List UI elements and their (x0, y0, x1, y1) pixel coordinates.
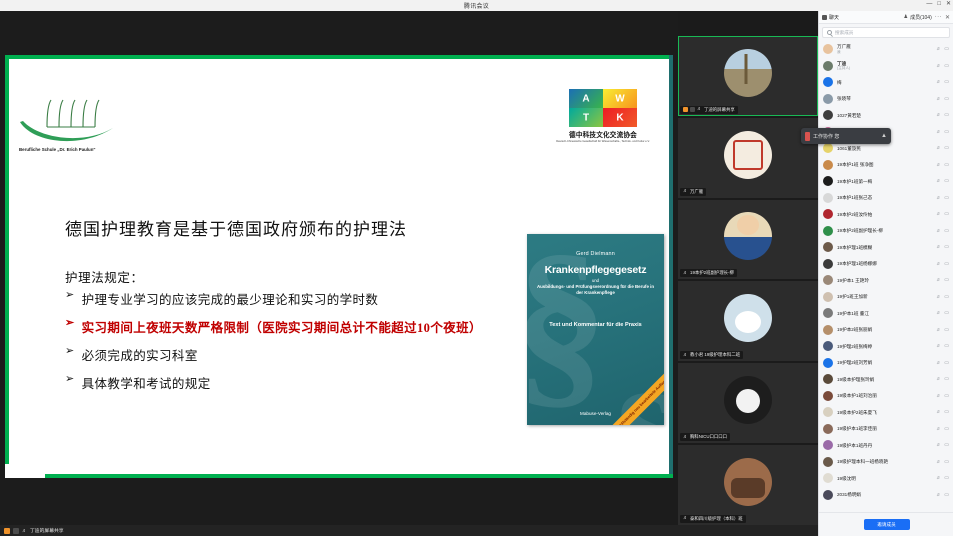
camera-off-icon[interactable]: ▭ (944, 294, 949, 300)
bullet-text: 具体教学和考试的规定 (82, 373, 211, 392)
avatar (823, 308, 833, 318)
book-publisher: Mabuse-Verlag (527, 411, 664, 416)
bullet-marker-icon: ➢ (65, 317, 75, 331)
member-controls[interactable]: ♬▭ (936, 426, 949, 432)
member-count-label: 成员(104) (910, 14, 932, 21)
avatar (823, 358, 833, 368)
avatar (823, 176, 833, 186)
member-row[interactable]: 19级护理本科一班杨晓艳♬▭ (819, 454, 953, 471)
member-controls[interactable]: ♬▭ (936, 409, 949, 415)
search-area: 搜索成员 (819, 24, 953, 41)
mic-off-icon[interactable]: ♬ (936, 211, 941, 217)
mic-off-icon[interactable]: ♬ (936, 343, 941, 349)
member-row[interactable]: 19护本1班 董江♬▭ (819, 305, 953, 322)
member-role: (主持人) (837, 66, 850, 70)
screen-share-icon (4, 528, 10, 534)
status-bar-text: 丁迪的屏幕共享 (30, 527, 64, 534)
school-logo: Berufliche Schule „Dr. Erich Paulun" (19, 97, 129, 157)
mic-icon: ♬ (22, 528, 27, 534)
tab-chat[interactable]: 聊天 (822, 14, 839, 21)
mic-off-icon[interactable]: ♬ (936, 327, 941, 333)
avatar (724, 49, 772, 97)
member-name: 19级护理本科一班杨晓艳 (837, 459, 888, 465)
mic-off-icon[interactable]: ♬ (936, 277, 941, 283)
avatar (823, 391, 833, 401)
mic-off-icon: ♬ (683, 516, 688, 521)
member-controls[interactable]: ♬▭ (936, 360, 949, 366)
member-count[interactable]: ♟ 成员(104) (904, 14, 932, 21)
side-panel: 聊天 ♟ 成员(104) ··· ✕ 搜索成员 万广雁我♬▭丁迪(主持人)♬▭梅… (818, 11, 953, 536)
member-name: 1061董旋民 (837, 146, 861, 152)
association-name-cn: 德中科技文化交流协会 (547, 129, 659, 139)
avatar (823, 374, 833, 384)
avatar (724, 376, 772, 424)
member-name: 19本护1班张己态 (837, 195, 872, 201)
camera-off-icon[interactable]: ▭ (944, 376, 949, 382)
status-bar: ♬ 丁迪的屏幕共享 (0, 525, 818, 536)
member-row[interactable]: 19护1班王加新♬▭ (819, 289, 953, 306)
member-row[interactable]: 19护本2班张丽娟♬▭ (819, 322, 953, 339)
camera-off-icon[interactable]: ▭ (944, 145, 949, 151)
video-tile[interactable]: ♬ 胸科NICU口口口口 (678, 363, 818, 443)
mic-off-icon[interactable]: ♬ (936, 409, 941, 415)
member-name: 19护1班王加新 (837, 294, 868, 300)
awtk-letter-a: A (569, 89, 603, 108)
slide-title: 德国护理教育是基于德国政府颁布的护理法 (65, 215, 407, 240)
video-tile[interactable]: ♬ 19本护2班副护理长-柳 (678, 200, 818, 280)
member-name: 19本护2班汝伶帕 (837, 212, 872, 218)
slide-bullet-list: ➢ 护理专业学习的应该完成的最少理论和实习的学时数 ➢ 实习期间上夜班天数严格限… (65, 289, 535, 401)
video-tile[interactable]: ♬ 泰和四川级护理（本科）班 (678, 445, 818, 525)
collaboration-toolbar[interactable]: 工作协作 您 ▲ (801, 128, 891, 144)
mic-off-icon[interactable]: ♬ (936, 145, 941, 151)
mic-off-icon[interactable]: ♬ (936, 46, 941, 52)
window-titlebar: 腾讯会议 — □ ✕ (0, 0, 953, 11)
search-icon (827, 30, 832, 35)
member-name: 19本护理1班模糊 (837, 245, 872, 251)
video-tile-label: ♬ 19本护2班副护理长-柳 (680, 269, 737, 277)
member-controls[interactable]: ♬▭ (936, 442, 949, 448)
camera-off-icon[interactable]: ▭ (944, 79, 949, 85)
member-name: 19级护本1班丹丹 (837, 443, 872, 449)
camera-off-icon[interactable]: ▭ (944, 244, 949, 250)
window-title: 腾讯会议 (464, 1, 489, 10)
member-row[interactable]: 19本护2班副护理长-柳♬▭ (819, 223, 953, 240)
member-name: 1027黄若楚 (837, 113, 861, 119)
camera-off-icon[interactable]: ▭ (944, 162, 949, 168)
meeting-app: Berufliche Schule „Dr. Erich Paulun" A W… (0, 11, 953, 536)
video-tile-label: ♬ 教小君 19级护理本科二班 (680, 351, 743, 359)
slide-corner-notch (5, 464, 45, 478)
green-swoosh-icon (19, 119, 115, 145)
book-author: Gerd Dielmann (527, 251, 664, 257)
avatar (823, 110, 833, 120)
member-controls[interactable]: ♬▭ (936, 277, 949, 283)
member-controls[interactable]: ♬▭ (936, 327, 949, 333)
member-name: 19级沈明 (837, 476, 856, 482)
mic-off-icon[interactable]: ♬ (936, 459, 941, 465)
person-icon: ♟ (904, 14, 908, 20)
bullet-text: 必须完成的实习科室 (82, 345, 198, 364)
member-name: 19护理2班刘芳娟 (837, 360, 872, 366)
camera-off-icon[interactable]: ▭ (944, 393, 949, 399)
mic-off-icon[interactable]: ♬ (936, 442, 941, 448)
member-row[interactable]: 19本护1班 张净图♬▭ (819, 157, 953, 174)
bullet-text: 实习期间上夜班天数严格限制（医院实习期间总计不能超过10个夜班） (82, 317, 482, 336)
avatar (823, 209, 833, 219)
mic-off-icon[interactable]: ♬ (936, 162, 941, 168)
member-controls[interactable]: ♬▭ (936, 310, 949, 316)
avatar (823, 275, 833, 285)
chevron-up-icon[interactable]: ▲ (881, 133, 887, 139)
list-item: ➢ 具体教学和考试的规定 (65, 373, 535, 392)
camera-off-icon[interactable]: ▭ (944, 63, 949, 69)
member-name: 19级护本1班李佳丽 (837, 426, 877, 432)
member-controls[interactable]: ♬▭ (936, 376, 949, 382)
chat-icon (822, 15, 827, 20)
mic-off-icon[interactable]: ♬ (936, 426, 941, 432)
member-controls[interactable]: ♬▭ (936, 228, 949, 234)
search-input[interactable]: 搜索成员 (822, 27, 950, 38)
book-cover-image: § § Gerd Dielmann Krankenpflegegesetz un… (527, 234, 664, 425)
avatar (823, 325, 833, 335)
list-item: ➢ 护理专业学习的应该完成的最少理论和实习的学时数 (65, 289, 535, 308)
member-controls[interactable]: ♬▭ (936, 46, 949, 52)
member-name: 19级本护1班刘治丽 (837, 393, 877, 399)
mic-off-icon[interactable]: ♬ (936, 360, 941, 366)
bullet-text: 护理专业学习的应该完成的最少理论和实习的学时数 (82, 289, 379, 308)
mic-off-icon[interactable]: ♬ (936, 96, 941, 102)
camera-off-icon[interactable]: ▭ (944, 492, 949, 498)
mic-off-icon[interactable]: ♬ (936, 129, 941, 135)
slide-left-bar (5, 55, 9, 478)
camera-off-icon[interactable]: ▭ (944, 343, 949, 349)
avatar (724, 294, 772, 342)
mic-off-icon[interactable]: ♬ (936, 310, 941, 316)
camera-off-icon[interactable]: ▭ (944, 327, 949, 333)
member-row[interactable]: 19级本护理张玲娟♬▭ (819, 371, 953, 388)
camera-off-icon[interactable]: ▭ (944, 442, 949, 448)
member-role: 我 (837, 50, 851, 54)
camera-off-icon[interactable]: ▭ (944, 426, 949, 432)
video-tile[interactable]: ♬ 教小君 19级护理本科二班 (678, 281, 818, 361)
video-tile[interactable]: ♬ 万广雁 (678, 118, 818, 198)
video-thumbnail-strip: ♬ 丁迪的屏幕共享 ♬ 万广雁 ♬ 19本护2班副护理长-柳 ♬ 教小君 19级… (678, 11, 818, 525)
camera-off-icon[interactable]: ▭ (944, 261, 949, 267)
mic-off-icon[interactable]: ♬ (936, 492, 941, 498)
member-row[interactable]: 19护理2班张梅婷♬▭ (819, 338, 953, 355)
member-controls[interactable]: ♬▭ (936, 112, 949, 118)
member-name: 梅 (837, 80, 842, 86)
participant-name: 胸科NICU口口口口 (690, 434, 727, 440)
record-indicator-icon (805, 132, 810, 141)
mic-off-icon: ♬ (683, 271, 688, 276)
camera-off-icon[interactable]: ▭ (944, 112, 949, 118)
video-tile[interactable]: ♬ 丁迪的屏幕共享 (678, 36, 818, 116)
member-name: 19护本2班张丽娟 (837, 327, 872, 333)
awtk-letter-t: T (569, 108, 603, 127)
mic-off-icon[interactable]: ♬ (936, 393, 941, 399)
member-row[interactable]: 19本护2班汝伶帕♬▭ (819, 206, 953, 223)
member-controls[interactable]: ♬▭ (936, 343, 949, 349)
member-controls[interactable]: ♬▭ (936, 261, 949, 267)
member-row[interactable]: 19级沈明♬▭ (819, 470, 953, 487)
avatar (823, 143, 833, 153)
avatar (724, 212, 772, 260)
list-item: ➢ 实习期间上夜班天数严格限制（医院实习期间总计不能超过10个夜班） (65, 317, 535, 336)
camera-off-icon[interactable]: ▭ (944, 195, 949, 201)
participant-name: 万广雁 (690, 189, 703, 195)
mic-off-icon: ♬ (683, 189, 688, 194)
book-tagline: Text und Kommentar für die Praxis (527, 322, 664, 328)
awtk-letter-w: W (603, 89, 637, 108)
camera-off-icon[interactable]: ▭ (944, 360, 949, 366)
member-name: 2031杨明娟 (837, 492, 861, 498)
awtk-letter-k: K (603, 108, 637, 127)
video-tile-label: ♬ 胸科NICU口口口口 (680, 433, 730, 441)
avatar (823, 341, 833, 351)
avatar (823, 77, 833, 87)
shared-screen-region: Berufliche Schule „Dr. Erich Paulun" A W… (0, 11, 678, 525)
member-controls[interactable]: ♬▭ (936, 129, 949, 135)
slide-subtitle: 护理法规定： (65, 267, 144, 286)
member-name: 张晓琴 (837, 96, 851, 102)
camera-off-icon[interactable]: ▭ (944, 46, 949, 52)
avatar (823, 490, 833, 500)
member-row[interactable]: 19级本护2班朱夏飞♬▭ (819, 404, 953, 421)
awtk-grid-icon: A W T K (569, 89, 637, 127)
member-row[interactable]: 2031杨明娟♬▭ (819, 487, 953, 504)
member-row[interactable]: 19本护1班张己态♬▭ (819, 190, 953, 207)
member-row[interactable]: 梅♬▭ (819, 74, 953, 91)
participant-name: 丁迪的屏幕共享 (704, 107, 735, 113)
slide-top-bar (5, 55, 673, 59)
member-controls[interactable]: ♬▭ (936, 459, 949, 465)
avatar (823, 457, 833, 467)
mic-off-icon: ♬ (697, 107, 702, 112)
member-name: 19级本护2班朱夏飞 (837, 410, 877, 416)
member-row[interactable]: 19本护1班第一梅♬▭ (819, 173, 953, 190)
bullet-marker-icon: ➢ (65, 345, 75, 359)
participant-name: 教小君 19级护理本科二班 (690, 352, 740, 358)
member-name: 19级本护理张玲娟 (837, 377, 874, 383)
association-logo: A W T K 德中科技文化交流协会 Deutsch-Chinesische G… (547, 89, 659, 151)
member-controls[interactable]: ♬▭ (936, 178, 949, 184)
avatar (823, 226, 833, 236)
camera-off-icon[interactable]: ▭ (944, 310, 949, 316)
screen-share-icon (683, 107, 688, 112)
video-tile-label: ♬ 泰和四川级护理（本科）班 (680, 515, 746, 523)
mic-off-icon[interactable]: ♬ (936, 112, 941, 118)
member-row[interactable]: 19级本护1班刘治丽♬▭ (819, 388, 953, 405)
member-controls[interactable]: ♬▭ (936, 294, 949, 300)
camera-off-icon[interactable]: ▭ (944, 96, 949, 102)
mic-off-icon: ♬ (683, 353, 688, 358)
slide-right-bar (669, 55, 673, 478)
camera-off-icon[interactable]: ▭ (944, 409, 949, 415)
slide-bottom-bar (5, 474, 673, 478)
collab-toolbar-label: 工作协作 您 (813, 133, 839, 140)
member-controls[interactable]: ♬▭ (936, 162, 949, 168)
member-row[interactable]: 19护本1 王艳玲♬▭ (819, 272, 953, 289)
member-controls[interactable]: ♬▭ (936, 195, 949, 201)
member-controls[interactable]: ♬▭ (936, 492, 949, 498)
book-title: Krankenpflegegesetz (527, 264, 664, 276)
avatar (823, 193, 833, 203)
avatar (823, 424, 833, 434)
member-row[interactable]: 19本护理1班模糊♬▭ (819, 239, 953, 256)
member-row[interactable]: 19护理2班刘芳娟♬▭ (819, 355, 953, 372)
video-tile-label: ♬ 丁迪的屏幕共享 (680, 106, 738, 114)
avatar (823, 61, 833, 71)
member-row[interactable]: 19本护理1班杨娜娜♬▭ (819, 256, 953, 273)
member-controls[interactable]: ♬▭ (936, 145, 949, 151)
book-and: und (527, 278, 664, 283)
mic-off-icon[interactable]: ♬ (936, 244, 941, 250)
camera-off-icon[interactable]: ▭ (944, 178, 949, 184)
book-subtitle: Ausbildungs- und Prüfungsverordnung für … (533, 284, 658, 297)
close-panel-icon[interactable]: ✕ (945, 14, 950, 21)
member-name: 19护本1班 董江 (837, 311, 869, 317)
mic-off-icon[interactable]: ♬ (936, 376, 941, 382)
participant-name: 泰和四川级护理（本科）班 (690, 516, 743, 522)
search-placeholder: 搜索成员 (835, 30, 853, 36)
avatar (823, 473, 833, 483)
member-row[interactable]: 1027黄若楚♬▭ (819, 107, 953, 124)
list-item: ➢ 必须完成的实习科室 (65, 345, 535, 364)
minimize-button[interactable]: — (926, 1, 932, 7)
camera-off-icon (13, 528, 19, 534)
camera-off-icon[interactable]: ▭ (944, 211, 949, 217)
window-controls: — □ ✕ (926, 1, 951, 7)
avatar (823, 292, 833, 302)
camera-off-icon[interactable]: ▭ (944, 459, 949, 465)
avatar (823, 440, 833, 450)
member-name: 19本护1班 张净图 (837, 162, 874, 168)
mic-off-icon[interactable]: ♬ (936, 79, 941, 85)
invite-members-button[interactable]: 邀请成员 (864, 519, 910, 530)
avatar (823, 242, 833, 252)
member-name: 19本护理1班杨娜娜 (837, 261, 877, 267)
avatar (823, 94, 833, 104)
member-controls[interactable]: ♬▭ (936, 211, 949, 217)
member-controls[interactable]: ♬▭ (936, 244, 949, 250)
member-row[interactable]: 19级护本1班李佳丽♬▭ (819, 421, 953, 438)
avatar (724, 458, 772, 506)
avatar (823, 407, 833, 417)
avatar (823, 44, 833, 54)
mic-off-icon: ♬ (683, 435, 688, 440)
member-row[interactable]: 19级护本1班丹丹♬▭ (819, 437, 953, 454)
member-name: 19护本1 王艳玲 (837, 278, 869, 284)
maximize-button[interactable]: □ (937, 1, 941, 7)
presentation-slide: Berufliche Schule „Dr. Erich Paulun" A W… (5, 55, 673, 478)
bullet-marker-icon: ➢ (65, 373, 75, 387)
member-name: 19护理2班张梅婷 (837, 344, 872, 350)
video-tile-label: ♬ 万广雁 (680, 188, 706, 196)
member-controls[interactable]: ♬▭ (936, 79, 949, 85)
mic-off-icon[interactable]: ♬ (936, 178, 941, 184)
mic-off-icon[interactable]: ♬ (936, 294, 941, 300)
member-list[interactable]: 万广雁我♬▭丁迪(主持人)♬▭梅♬▭张晓琴♬▭1027黄若楚♬▭1030热点♬▭… (819, 41, 953, 515)
camera-off-icon (690, 107, 695, 112)
avatar (823, 160, 833, 170)
camera-off-icon[interactable]: ▭ (944, 129, 949, 135)
association-name-de: Deutsch-Chinesische Gesellschaft für Wis… (547, 140, 659, 143)
camera-off-icon[interactable]: ▭ (944, 277, 949, 283)
member-row[interactable]: 张晓琴♬▭ (819, 91, 953, 108)
member-controls[interactable]: ♬▭ (936, 96, 949, 102)
member-name: 19本护2班副护理长-柳 (837, 228, 883, 234)
mic-off-icon[interactable]: ♬ (936, 475, 941, 481)
member-row[interactable]: 万广雁我♬▭ (819, 41, 953, 58)
avatar (823, 259, 833, 269)
close-button[interactable]: ✕ (946, 1, 951, 7)
bullet-marker-icon: ➢ (65, 289, 75, 303)
participant-name: 19本护2班副护理长-柳 (690, 270, 734, 276)
avatar (724, 131, 772, 179)
side-panel-footer: 邀请成员 (819, 512, 953, 536)
more-options-icon[interactable]: ··· (935, 14, 942, 20)
mic-off-icon[interactable]: ♬ (936, 228, 941, 234)
member-controls[interactable]: ♬▭ (936, 63, 949, 69)
mic-off-icon[interactable]: ♬ (936, 261, 941, 267)
side-panel-header: 聊天 ♟ 成员(104) ··· ✕ (819, 11, 953, 24)
camera-off-icon[interactable]: ▭ (944, 228, 949, 234)
member-controls[interactable]: ♬▭ (936, 393, 949, 399)
camera-off-icon[interactable]: ▭ (944, 475, 949, 481)
member-name: 19本护1班第一梅 (837, 179, 872, 185)
school-logo-caption: Berufliche Schule „Dr. Erich Paulun" (19, 147, 96, 152)
member-row[interactable]: 丁迪(主持人)♬▭ (819, 58, 953, 75)
tab-chat-label: 聊天 (829, 14, 839, 21)
member-controls[interactable]: ♬▭ (936, 475, 949, 481)
mic-off-icon[interactable]: ♬ (936, 195, 941, 201)
mic-off-icon[interactable]: ♬ (936, 63, 941, 69)
